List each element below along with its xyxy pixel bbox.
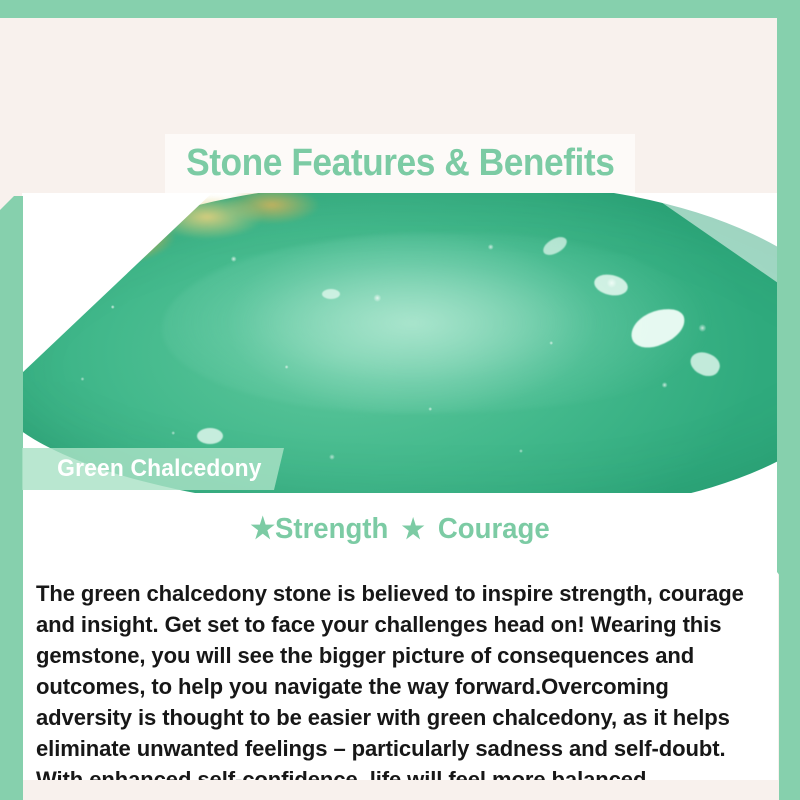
description-panel: ★Strength★Courage The green chalcedony s… xyxy=(22,493,778,780)
green-left-strip-decoration xyxy=(0,196,23,800)
green-top-band-decoration xyxy=(0,0,800,19)
green-right-strip-decoration xyxy=(777,0,800,586)
page-title: Stone Features & Benefits xyxy=(186,142,614,185)
benefit-label-courage: Courage xyxy=(438,513,550,545)
description-text: The green chalcedony stone is believed t… xyxy=(36,578,761,795)
stone-chip xyxy=(197,428,223,444)
star-icon: ★ xyxy=(402,514,425,544)
star-icon: ★ xyxy=(250,513,275,545)
stone-chip xyxy=(322,289,340,299)
bottom-cream-sliver xyxy=(22,780,778,800)
stone-name-banner: Green Chalcedony xyxy=(22,448,284,490)
infographic-canvas: Stone Features & Benefits Green Chalcedo… xyxy=(0,0,800,800)
benefit-label-strength: Strength xyxy=(275,513,388,545)
benefits-heading: ★Strength★Courage xyxy=(41,511,759,546)
stone-name-label: Green Chalcedony xyxy=(22,455,262,483)
page-title-band: Stone Features & Benefits xyxy=(165,134,635,193)
